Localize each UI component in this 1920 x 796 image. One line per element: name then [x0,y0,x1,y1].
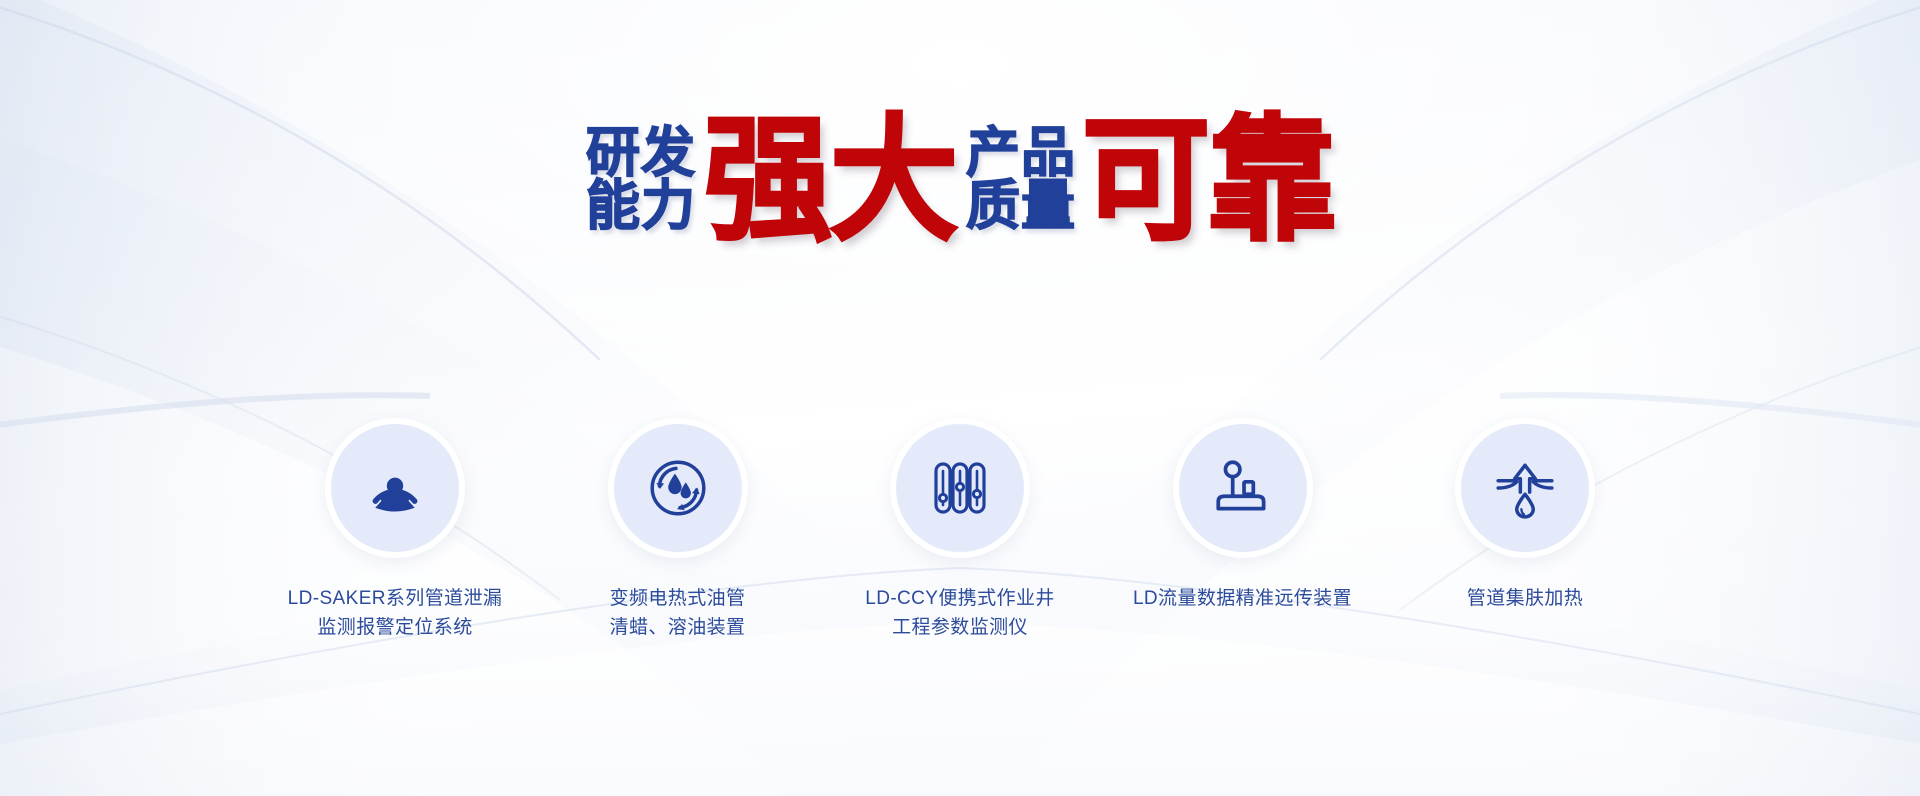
feature-list: LD-SAKER系列管道泄漏 监测报警定位系统 变频电热式油管 [270,418,1650,643]
feature-icon-circle[interactable] [890,418,1030,558]
feature-item[interactable]: LD-SAKER系列管道泄漏 监测报警定位系统 [270,418,520,643]
feature-label: LD流量数据精准远传装置 [1133,584,1352,613]
broadcast-signal-icon [360,453,430,523]
headline-emphasis-reliable: 可靠 [1082,119,1334,244]
headline-rnd-line1: 研发 [586,127,696,180]
vertical-sliders-icon [928,456,992,520]
headline-emphasis-strong: 强大 [704,119,956,244]
antenna-transmitter-icon [1210,455,1276,521]
feature-label: LD-CCY便携式作业井 工程参数监测仪 [865,584,1055,643]
headline-rnd-line2: 能力 [586,180,696,233]
feature-icon-circle[interactable] [1173,418,1313,558]
banner-stage: 研发 能力 强大 产品 质量 可靠 [0,0,1920,796]
feature-item[interactable]: LD-CCY便携式作业井 工程参数监测仪 [835,418,1085,643]
feature-icon-circle[interactable] [608,418,748,558]
headline: 研发 能力 强大 产品 质量 可靠 [0,108,1920,248]
feature-label: LD-SAKER系列管道泄漏 监测报警定位系统 [288,584,503,643]
headline-product-line2: 质量 [966,180,1076,233]
feature-label: 变频电热式油管 清蜡、溶油装置 [610,584,746,643]
upward-arrow-droplet-icon [1492,455,1558,521]
feature-item[interactable]: LD流量数据精准远传装置 [1118,418,1368,613]
headline-group-product: 产品 质量 [966,119,1076,233]
feature-label: 管道集肤加热 [1467,584,1583,613]
feature-icon-circle[interactable] [325,418,465,558]
water-droplet-recycle-icon [645,455,711,521]
feature-item[interactable]: 变频电热式油管 清蜡、溶油装置 [553,418,803,643]
headline-group-rnd: 研发 能力 [586,119,696,233]
feature-icon-circle[interactable] [1455,418,1595,558]
headline-product-line1: 产品 [966,127,1076,180]
feature-item[interactable]: 管道集肤加热 [1400,418,1650,613]
